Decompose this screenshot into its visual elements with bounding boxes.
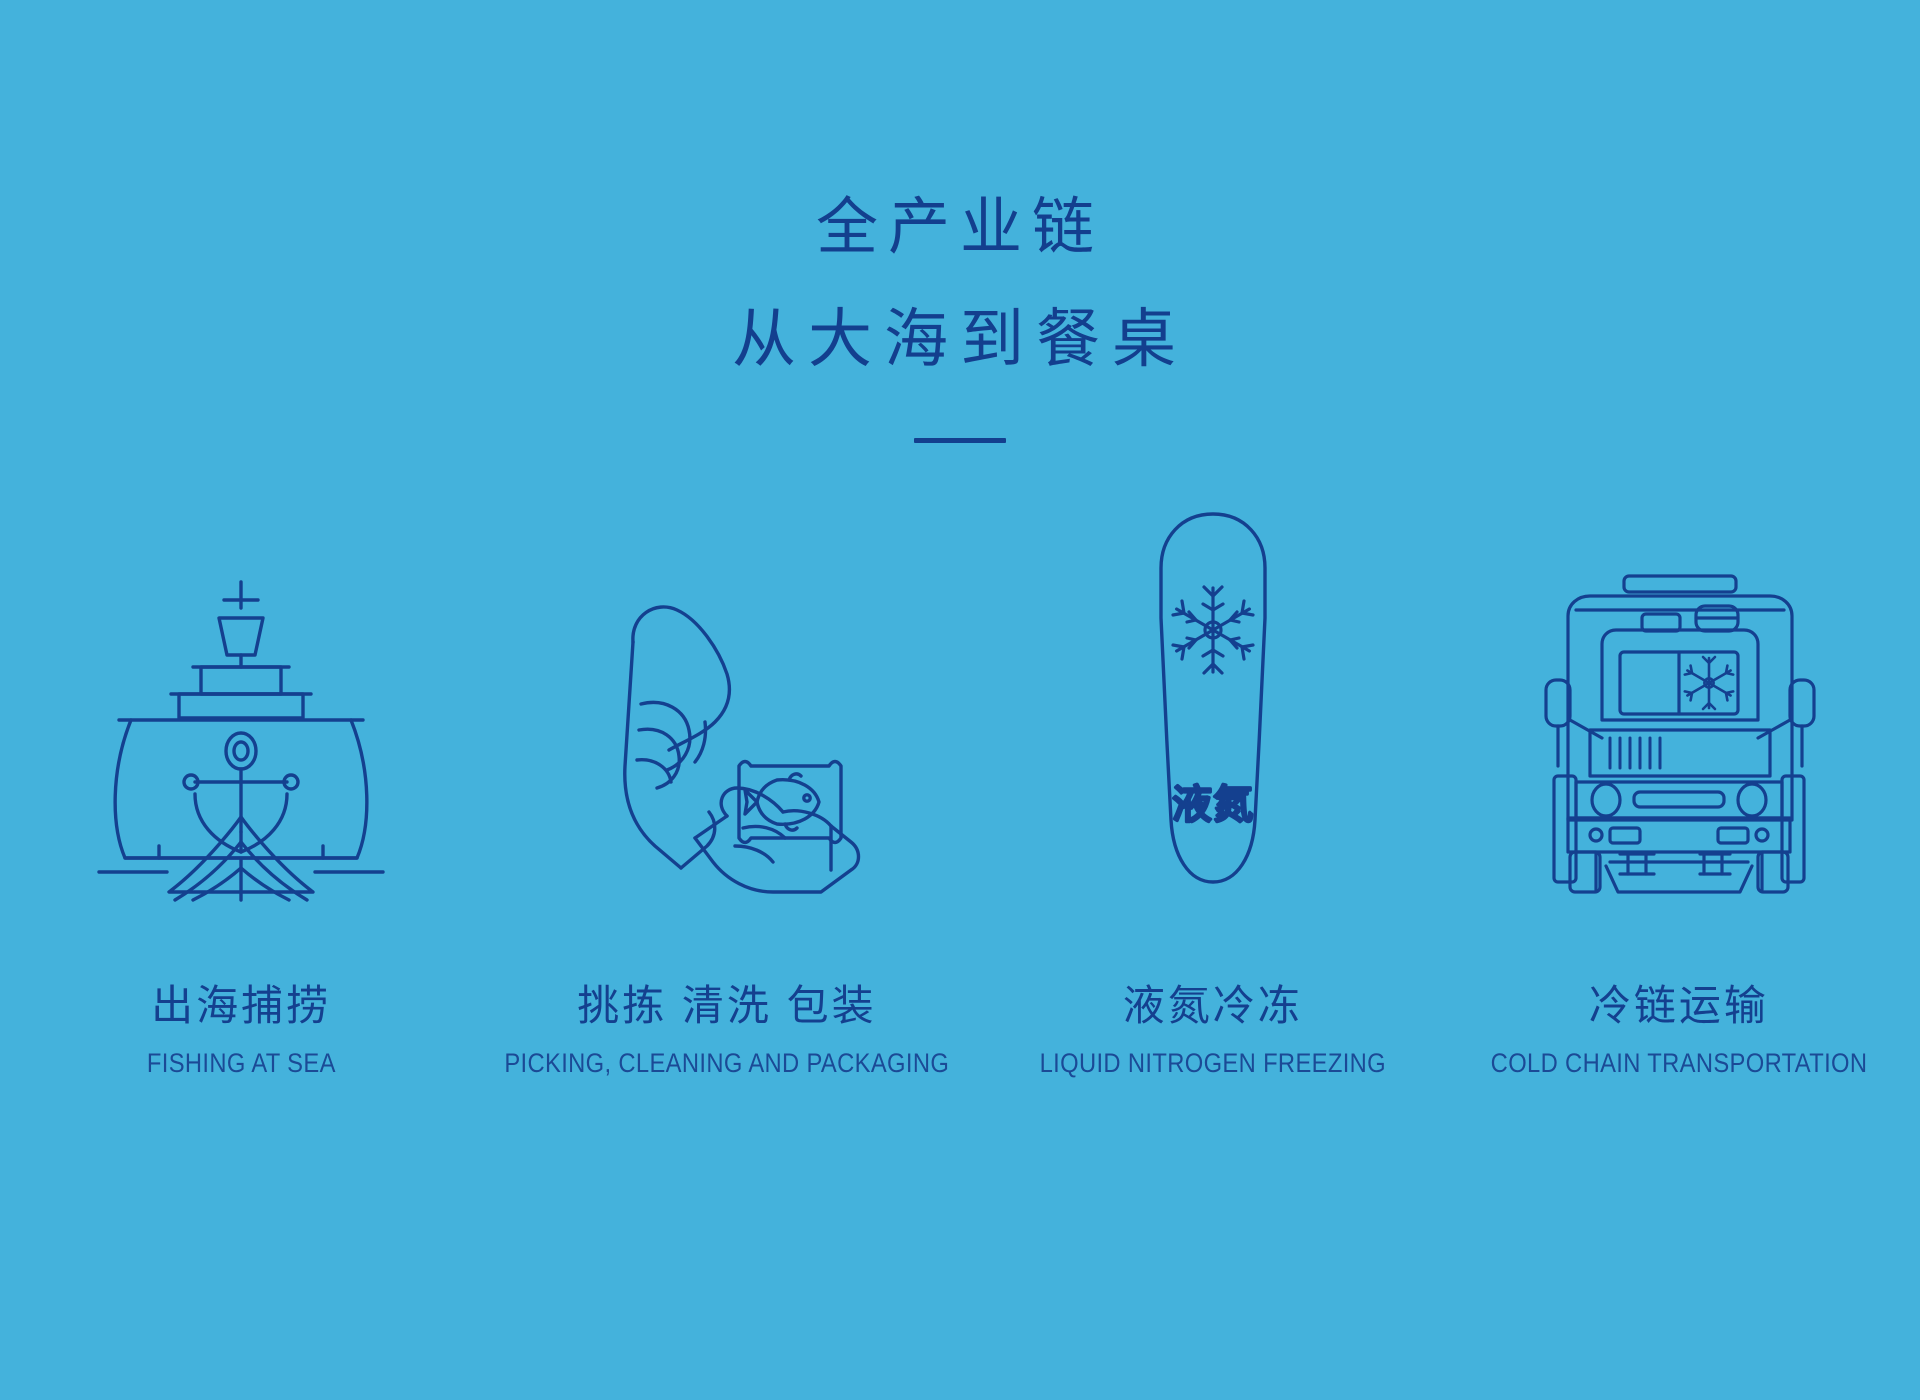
- page-title-line-1: 全产业链: [0, 172, 1920, 284]
- step-3-label-cn: 液氮冷冻: [1016, 978, 1410, 1034]
- step-3-icon-box: 液氮: [1063, 500, 1363, 900]
- step-1-label-en: FISHING AT SEA: [147, 1046, 336, 1080]
- step-4-labels: 冷链运输 COLD CHAIN TRANSPORTATION: [1465, 978, 1893, 1080]
- snowflake-icon: [1173, 587, 1253, 673]
- step-cold-chain-transportation[interactable]: 冷链运输 COLD CHAIN TRANSPORTATION: [1446, 500, 1912, 1080]
- step-4-label-cn: 冷链运输: [1465, 978, 1893, 1034]
- step-2-label-cn: 挑拣 清洗 包装: [474, 978, 980, 1034]
- step-1-labels: 出海捕捞 FISHING AT SEA: [134, 978, 349, 1080]
- step-1-label-cn: 出海捕捞: [134, 978, 349, 1034]
- step-1-icon-box: [91, 500, 391, 900]
- tank-caption: 液氮: [1172, 783, 1254, 827]
- page-header: 全产业链 从大海到餐桌: [0, 172, 1920, 440]
- step-4-label-en: COLD CHAIN TRANSPORTATION: [1491, 1046, 1868, 1080]
- step-2-labels: 挑拣 清洗 包装 PICKING, CLEANING AND PACKAGING: [474, 978, 980, 1080]
- step-2-label-en: PICKING, CLEANING AND PACKAGING: [504, 1046, 949, 1080]
- step-fishing-at-sea[interactable]: 出海捕捞 FISHING AT SEA: [8, 500, 474, 1080]
- step-4-icon-box: [1524, 500, 1834, 900]
- step-2-icon-box: [577, 500, 877, 900]
- step-3-label-en: LIQUID NITROGEN FREEZING: [1040, 1046, 1386, 1080]
- liquid-nitrogen-tank-icon: 液氮: [1063, 500, 1363, 900]
- hands-fish-package-icon: [577, 570, 877, 900]
- title-divider: [914, 438, 1006, 443]
- fishing-boat-icon: [91, 570, 391, 900]
- page-title-line-2: 从大海到餐桌: [0, 284, 1920, 396]
- snowflake-icon: [1685, 657, 1733, 709]
- step-3-labels: 液氮冷冻 LIQUID NITROGEN FREEZING: [1016, 978, 1410, 1080]
- refrigerated-truck-icon: [1524, 570, 1834, 900]
- step-picking-cleaning-packaging[interactable]: 挑拣 清洗 包装 PICKING, CLEANING AND PACKAGING: [474, 500, 980, 1080]
- title-divider-wrap: [0, 430, 1920, 440]
- infographic-page: 全产业链 从大海到餐桌: [0, 0, 1920, 1400]
- step-liquid-nitrogen-freezing[interactable]: 液氮 液氮冷冻 LIQUID NITROGEN FREEZING: [980, 500, 1446, 1080]
- process-steps: 出海捕捞 FISHING AT SEA: [0, 500, 1920, 1080]
